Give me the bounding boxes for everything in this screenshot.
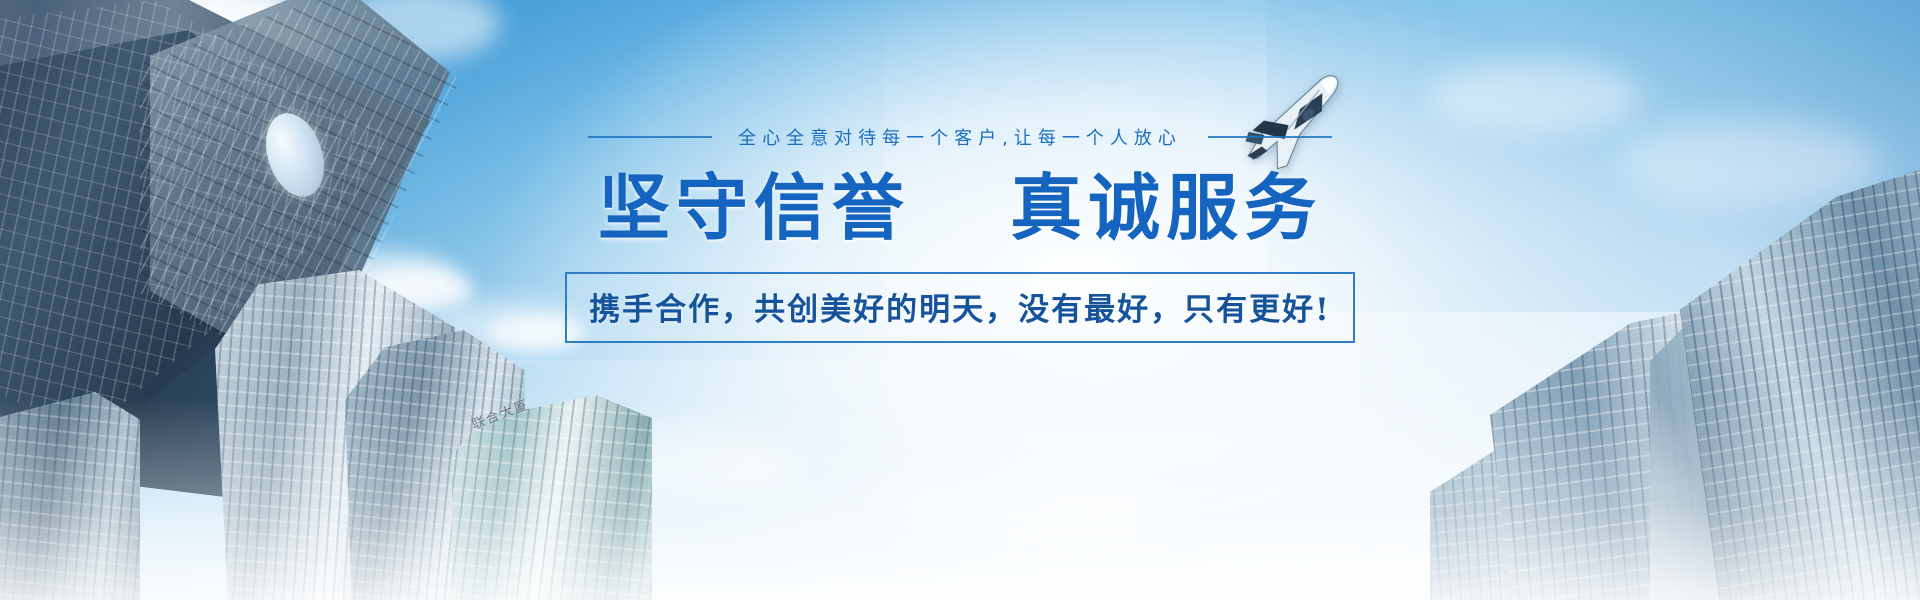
banner-tagline: 全心全意对待每一个客户,让每一个人放心 (738, 124, 1182, 150)
headline-part-2: 真诚服务 (1010, 165, 1322, 250)
hero-banner: 联合大厦 全心全意对待 (0, 0, 1920, 600)
banner-subtitle-box: 携手合作，共创美好的明天，没有最好，只有更好! (565, 272, 1355, 343)
horizontal-rule-icon-right (1208, 136, 1332, 138)
tagline-row: 全心全意对待每一个客户,让每一个人放心 (588, 122, 1332, 152)
banner-headline: 坚守信誉 真诚服务 (598, 170, 1322, 246)
banner-subtitle: 携手合作，共创美好的明天，没有最好，只有更好! (589, 292, 1331, 328)
horizontal-rule-icon-left (588, 136, 712, 138)
banner-content: 全心全意对待每一个客户,让每一个人放心 坚守信誉 真诚服务 携手合作，共创美好的… (0, 0, 1920, 600)
headline-part-1: 坚守信誉 (598, 165, 910, 250)
